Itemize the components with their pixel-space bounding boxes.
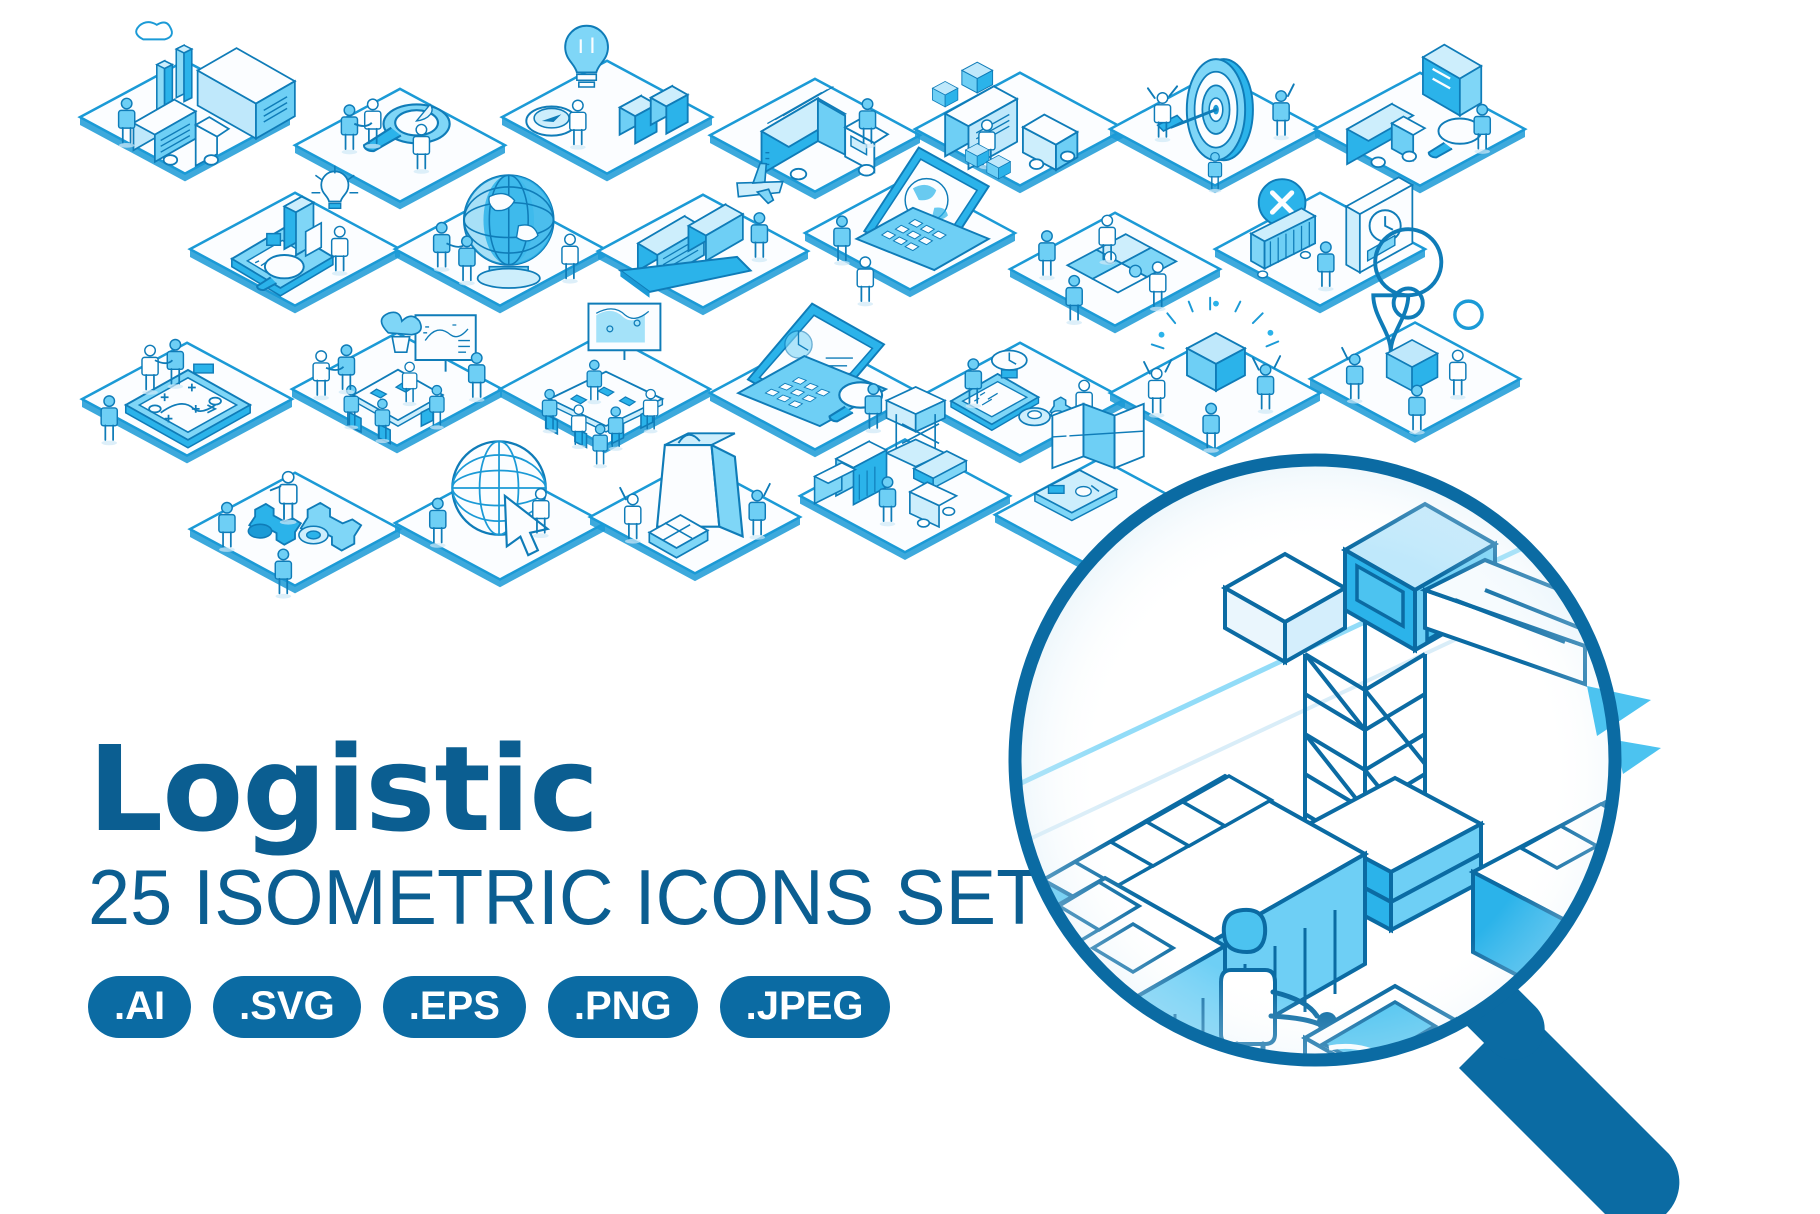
headline-block: Logistic 25 ISOMETRIC ICONS SET .AI .SVG… bbox=[88, 735, 968, 1038]
magnifier-scene bbox=[925, 440, 1820, 1214]
poster-canvas: Logistic 25 ISOMETRIC ICONS SET .AI .SVG… bbox=[0, 0, 1820, 1214]
icon-laptop-world-dashboard[interactable] bbox=[795, 130, 1025, 305]
icon-shopping-bag-gift[interactable] bbox=[580, 410, 810, 585]
format-badge-png[interactable]: .PNG bbox=[548, 976, 698, 1038]
format-badge-list: .AI .SVG .EPS .PNG .JPEG bbox=[88, 976, 968, 1038]
format-badge-eps[interactable]: .EPS bbox=[383, 976, 526, 1038]
icon-gears-mechanism-team[interactable] bbox=[180, 430, 410, 605]
page-subtitle: 25 ISOMETRIC ICONS SET bbox=[88, 858, 942, 936]
format-badge-ai[interactable]: .AI bbox=[88, 976, 191, 1038]
format-badge-jpeg[interactable]: .JPEG bbox=[720, 976, 890, 1038]
page-title: Logistic bbox=[88, 735, 968, 844]
format-badge-svg[interactable]: .SVG bbox=[213, 976, 361, 1038]
icon-location-pin-package-team[interactable] bbox=[1300, 270, 1530, 445]
